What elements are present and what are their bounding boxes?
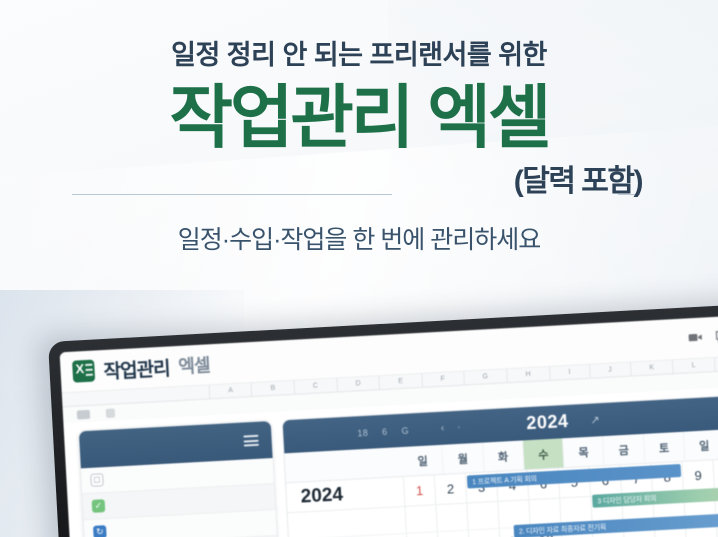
subtitle-text: (달력 포함) <box>0 164 718 200</box>
sidebar-panel: □✓↻✓ <box>78 420 281 537</box>
calendar-chip-3[interactable]: G <box>401 425 409 435</box>
column-header-B[interactable]: B <box>252 381 295 396</box>
refresh-icon: ↻ <box>93 525 107 537</box>
calendar-day-cell[interactable]: 9 <box>438 531 470 537</box>
column-header-A[interactable]: A <box>210 383 253 398</box>
calendar-weekday-5: 금 <box>603 434 645 465</box>
calendar-prev-button[interactable]: ‹ <box>441 423 445 434</box>
calendar-weekday-7: 일 <box>684 430 718 461</box>
column-header-I[interactable]: I <box>550 365 591 380</box>
page-title: 작업관리 엑셀 <box>0 83 718 152</box>
calendar-row-spacer <box>288 507 407 537</box>
calendar-day-cell[interactable]: 1 <box>404 475 437 506</box>
sidebar-list: □✓↻✓ <box>81 458 278 537</box>
laptop-mockup: 작업관리 엑셀 ABCD <box>48 301 718 537</box>
laptop-screen: 작업관리 엑셀 ABCD <box>60 312 718 537</box>
column-header-F[interactable]: F <box>422 372 465 387</box>
calendar-weekday-6: 토 <box>644 432 686 463</box>
titlebar-actions <box>688 326 718 344</box>
column-header-L[interactable]: L <box>673 358 715 373</box>
calendar-day-cell[interactable]: 10 <box>469 529 501 537</box>
clock-icon: □ <box>90 473 104 487</box>
app-title: 작업관리 <box>103 353 170 384</box>
calendar-chip-1[interactable]: 18 <box>357 427 368 438</box>
video-icon[interactable] <box>688 331 703 345</box>
calendar-year-icon: ↗ <box>590 413 600 426</box>
check-icon: ✓ <box>92 499 106 513</box>
calendar-day-cell[interactable] <box>405 505 437 533</box>
column-header-E[interactable]: E <box>380 374 423 389</box>
calendar-weekday-3: 수 <box>523 438 565 469</box>
calendar-weekday-1: 월 <box>442 443 484 474</box>
column-header-M[interactable]: M <box>715 356 718 371</box>
toolbar-stub-2[interactable] <box>106 408 115 417</box>
subtitle-row: (달력 포함) <box>0 164 718 208</box>
column-header-K[interactable]: K <box>631 360 674 375</box>
hamburger-icon[interactable] <box>243 432 259 449</box>
calendar-weekday-0: 일 <box>402 445 444 476</box>
calendar-today-dot[interactable]: · <box>457 422 461 433</box>
column-header-G[interactable]: G <box>464 369 508 384</box>
calendar-day-cell[interactable]: 2 <box>435 474 468 505</box>
toolbar-stub-1[interactable] <box>77 409 90 419</box>
poster-canvas: 일정 정리 안 되는 프리랜서를 위한 작업관리 엑셀 (달력 포함) 일정·수… <box>0 0 718 537</box>
eyebrow-text: 일정 정리 안 되는 프리랜서를 위한 <box>0 40 718 71</box>
headline-block: 일정 정리 안 되는 프리랜서를 위한 작업관리 엑셀 (달력 포함) 일정·수… <box>0 40 718 256</box>
column-header-H[interactable]: H <box>507 367 550 382</box>
calendar-day-cell[interactable]: 9 <box>682 460 715 491</box>
calendar-weekday-2: 화 <box>483 440 525 471</box>
calendar-panel: 18 6 G ‹ · 2024 ↗ › ⇥ <box>282 391 718 537</box>
column-header-D[interactable]: D <box>337 376 380 391</box>
calendar-year-display: 2024 <box>526 411 569 434</box>
excel-icon <box>72 360 95 383</box>
tagline-text: 일정·수입·작업을 한 번에 관리하세요 <box>0 220 718 256</box>
app-title-sub: 엑셀 <box>178 351 210 379</box>
calendar-day-cell[interactable] <box>467 502 499 530</box>
column-header-J[interactable]: J <box>590 363 632 378</box>
calendar-weekday-4: 목 <box>563 436 605 467</box>
calendar-day-cell[interactable] <box>436 504 468 532</box>
calendar-chip-2[interactable]: 6 <box>382 426 388 436</box>
calendar-day-cell[interactable]: 10 <box>713 459 718 490</box>
column-header-C[interactable]: C <box>294 378 337 393</box>
calendar-day-cell[interactable]: 6 <box>407 532 439 537</box>
